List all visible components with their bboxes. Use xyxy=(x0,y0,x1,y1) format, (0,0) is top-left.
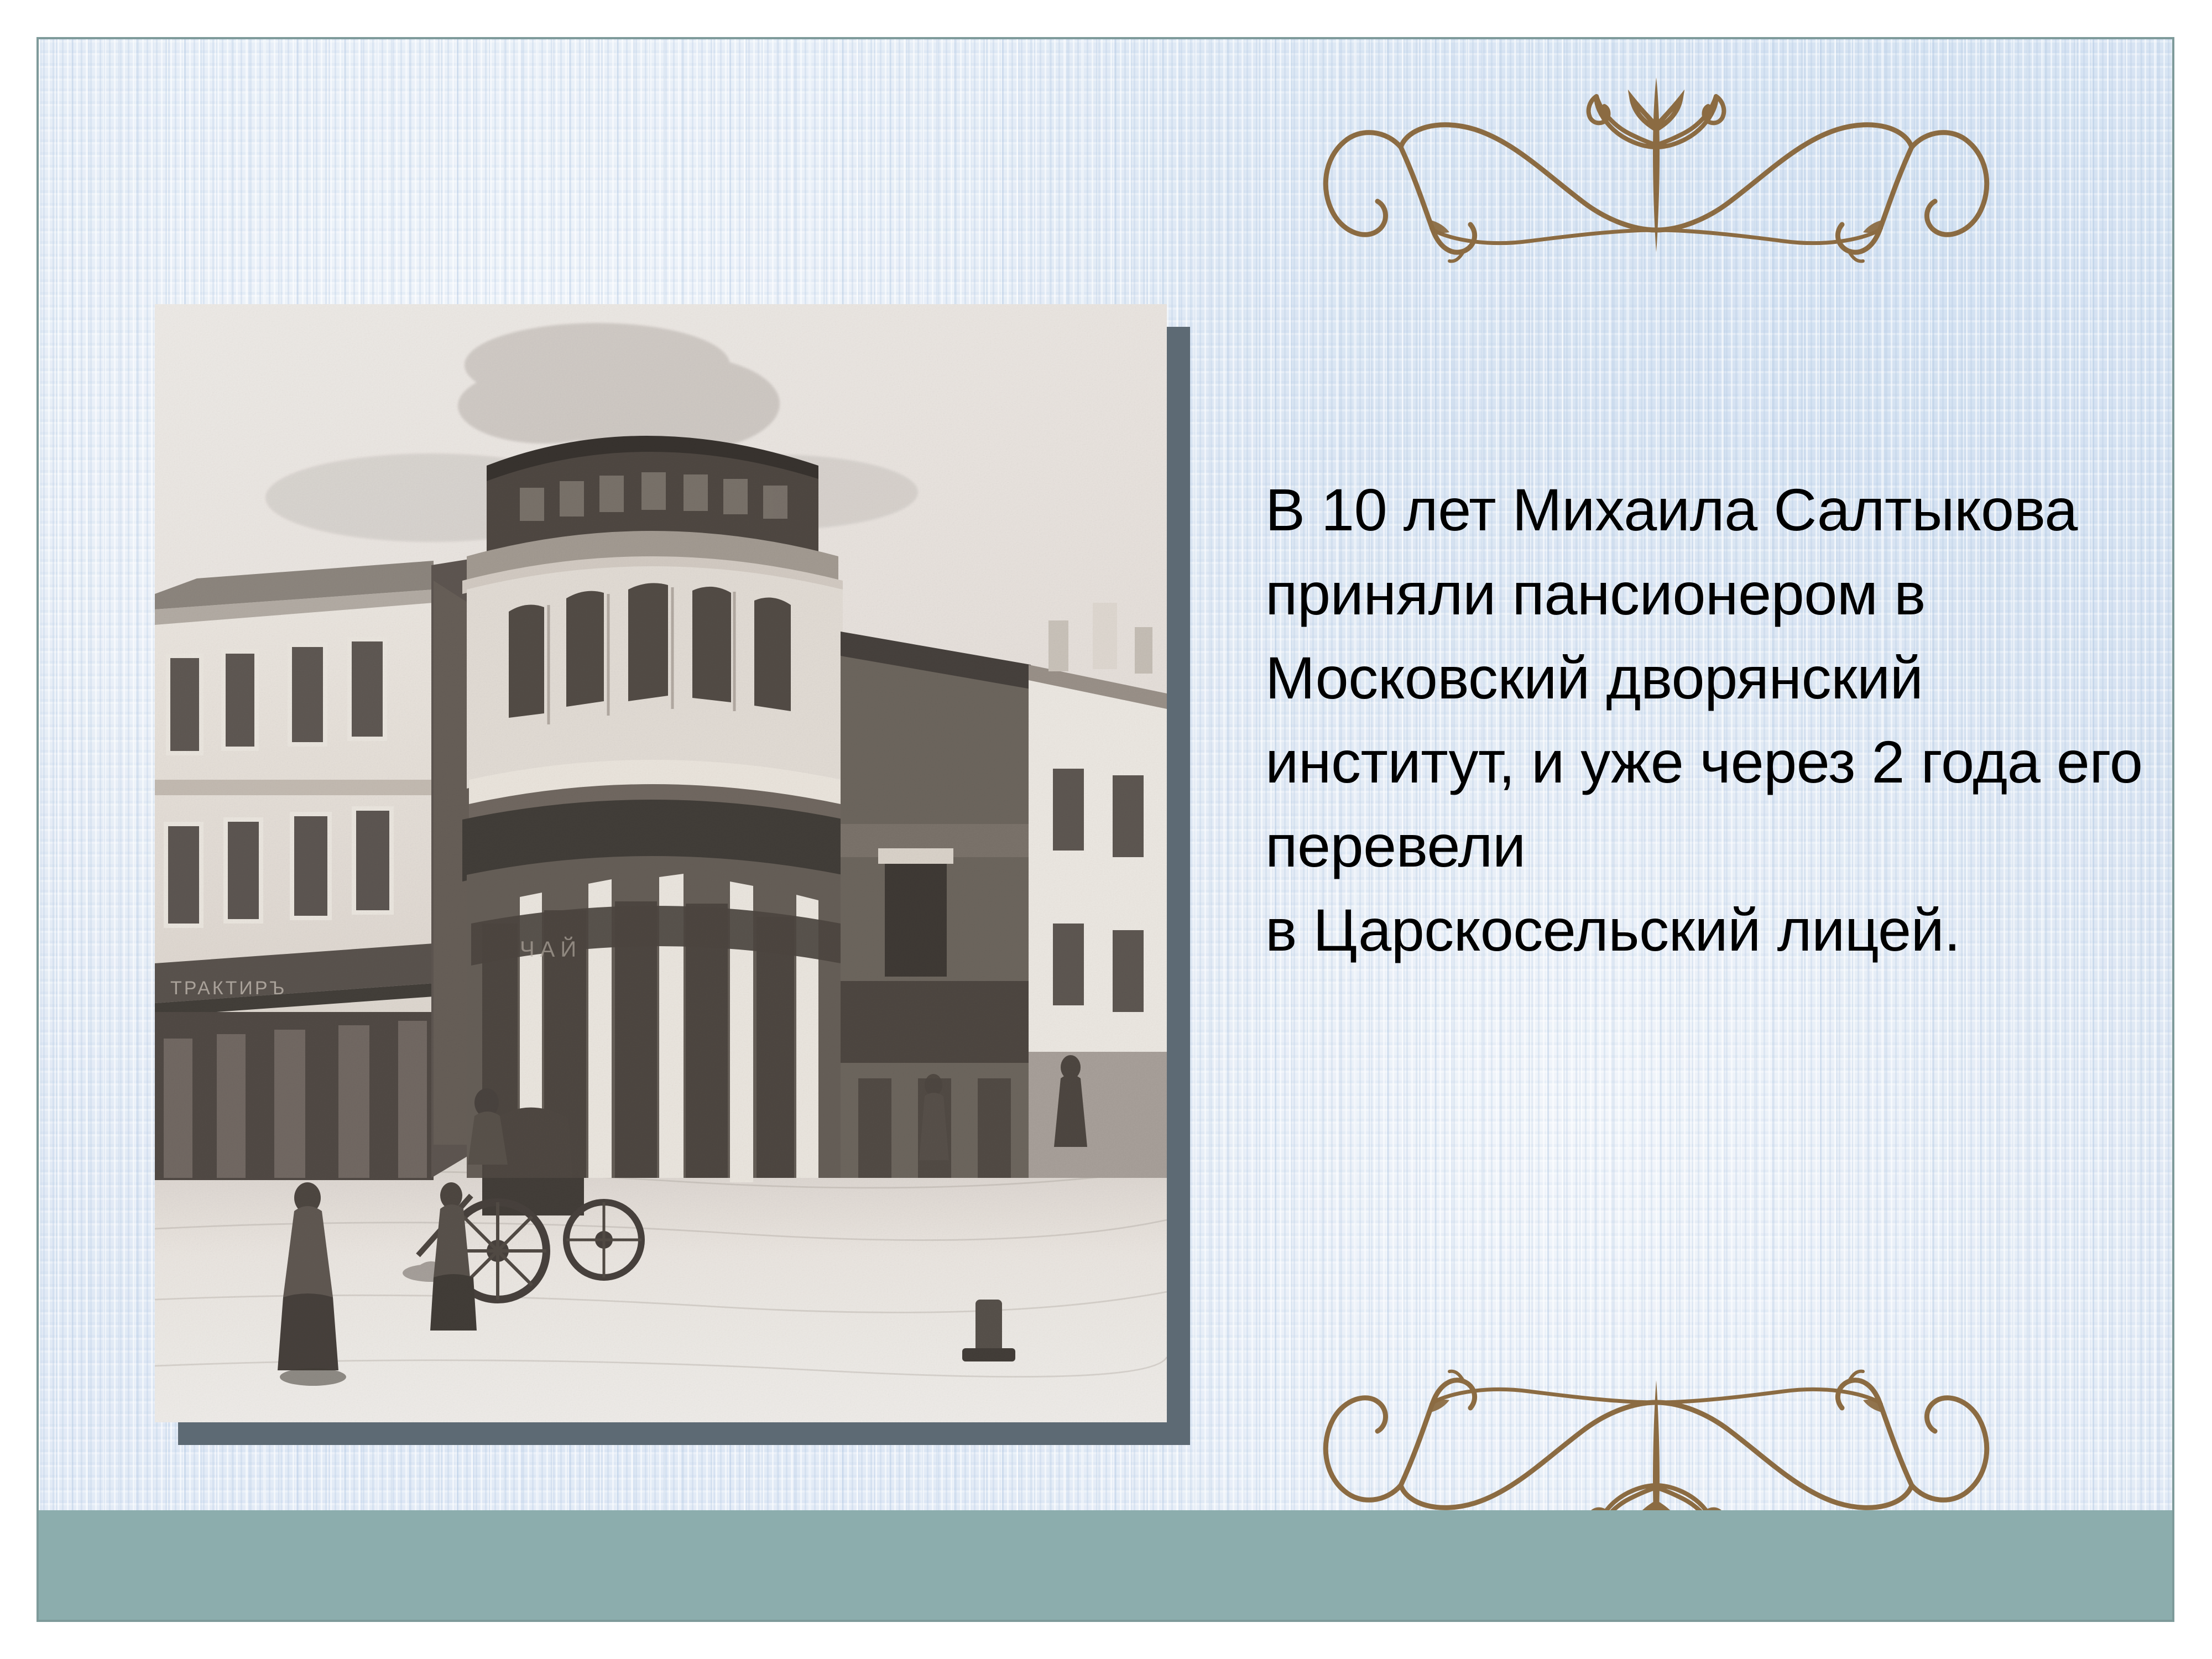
flourish-svg-top xyxy=(1269,64,2043,269)
presentation-slide: ТРАКТИРЪ xyxy=(36,37,2174,1622)
decorative-flourish-top-icon xyxy=(1269,64,2043,269)
historical-engraving-photo: ТРАКТИРЪ xyxy=(155,304,1167,1422)
slide-body-text: В 10 лет Михаила Салтыкова приняли панси… xyxy=(1265,468,2172,972)
engraving-artwork: ТРАКТИРЪ xyxy=(155,304,1167,1422)
footer-accent-band xyxy=(39,1510,2172,1620)
